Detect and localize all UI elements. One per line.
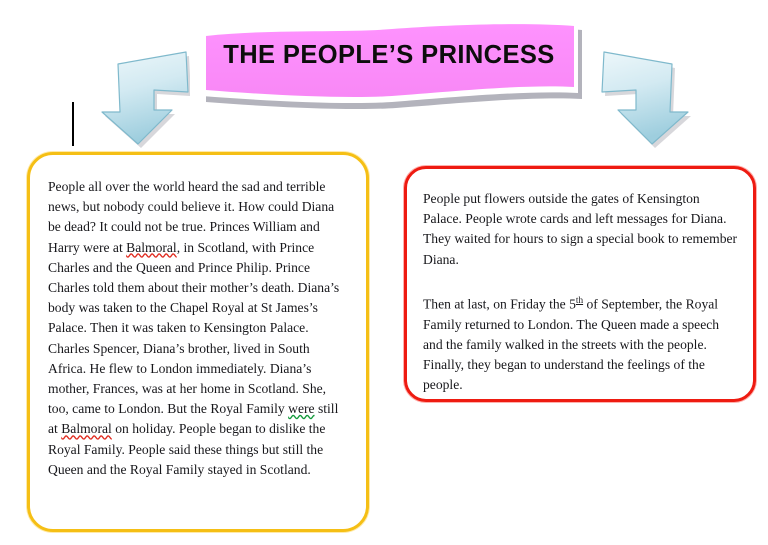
title-banner: THE PEOPLE’S PRINCESS <box>196 16 582 112</box>
bent-arrow-down-right-icon <box>596 46 698 150</box>
text-run: People put flowers outside the gates of … <box>423 191 737 267</box>
bent-arrow-down-right <box>596 46 698 150</box>
page-title: THE PEOPLE’S PRINCESS <box>196 16 582 94</box>
left-text-box-content: People all over the world heard the sad … <box>30 155 366 490</box>
right-text-box-content: People put flowers outside the gates of … <box>407 169 753 405</box>
spellcheck-misspelling: Balmoral <box>61 421 112 436</box>
text-run: Then at last, on Friday the 5 <box>423 296 576 311</box>
paragraph: People put flowers outside the gates of … <box>423 189 739 270</box>
vertical-text-cursor <box>72 102 74 146</box>
paragraph: Then at last, on Friday the 5th of Septe… <box>423 290 739 396</box>
left-text-box[interactable]: People all over the world heard the sad … <box>27 152 369 532</box>
bent-arrow-down-left-icon <box>88 46 190 150</box>
text-run: , in Scotland, with Prince Charles and t… <box>48 240 339 417</box>
bent-arrow-down-left <box>88 46 190 150</box>
grammarcheck-issue: were <box>288 401 314 416</box>
spellcheck-misspelling: Balmoral <box>126 240 177 255</box>
paragraph: People all over the world heard the sad … <box>48 177 350 480</box>
right-text-box[interactable]: People put flowers outside the gates of … <box>404 166 756 402</box>
